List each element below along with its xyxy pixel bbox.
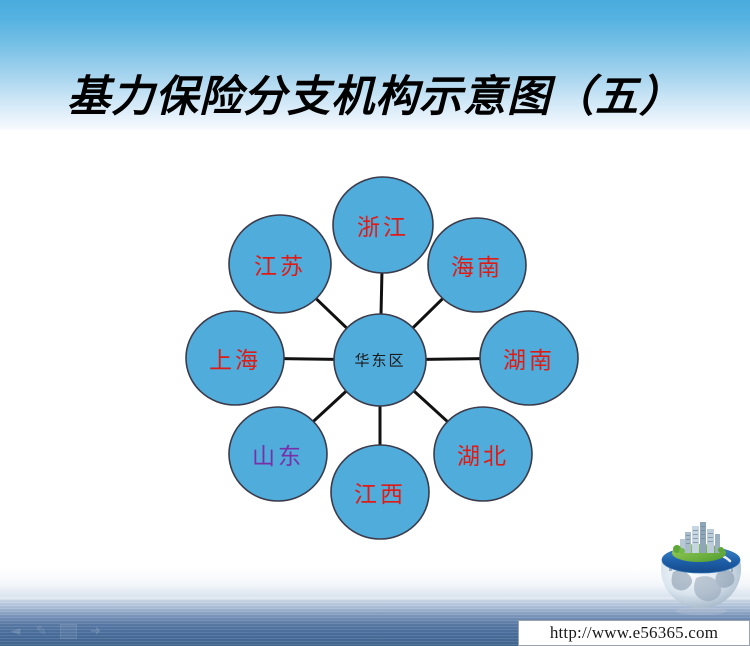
page-title: 基力保险分支机构示意图（五） — [0, 62, 750, 124]
connector-hainan — [412, 298, 443, 329]
connector-hunan — [425, 359, 482, 360]
node-jiangxi[interactable] — [331, 445, 429, 539]
connector-hubei — [413, 390, 448, 422]
node-hainan[interactable] — [428, 218, 526, 312]
globe-reflection — [675, 607, 727, 615]
connector-shanghai — [282, 359, 335, 360]
pen-control[interactable]: ✎ — [34, 625, 49, 638]
globe-city-logo — [655, 520, 747, 616]
node-hubei[interactable] — [434, 407, 532, 501]
node-hunan[interactable] — [480, 311, 578, 405]
next-slide-control[interactable]: ➜ — [88, 625, 103, 638]
slide-canvas: 基力保险分支机构示意图（五） 浙江海南湖南湖北江西山东上海江苏华东区 — [0, 0, 750, 646]
connector-zhejiang — [381, 273, 382, 315]
globe-city-skyline — [673, 522, 724, 554]
presentation-controls[interactable]: ◄ ✎ ➜ — [8, 622, 118, 640]
node-shanghai[interactable] — [186, 311, 284, 405]
menu-control[interactable] — [60, 624, 77, 639]
hub-huadongqu[interactable] — [334, 314, 426, 406]
diagram-svg — [180, 160, 570, 530]
node-shandong[interactable] — [229, 407, 327, 501]
org-structure-diagram: 浙江海南湖南湖北江西山东上海江苏华东区 — [180, 160, 570, 530]
node-zhejiang[interactable] — [333, 177, 433, 273]
connector-jiangsu — [315, 298, 347, 329]
connector-shandong — [313, 390, 347, 422]
node-jiangsu[interactable] — [229, 215, 331, 313]
node-layer — [186, 177, 578, 539]
website-url-box[interactable]: http://www.e56365.com — [518, 620, 750, 646]
prev-slide-control[interactable]: ◄ — [8, 625, 23, 638]
